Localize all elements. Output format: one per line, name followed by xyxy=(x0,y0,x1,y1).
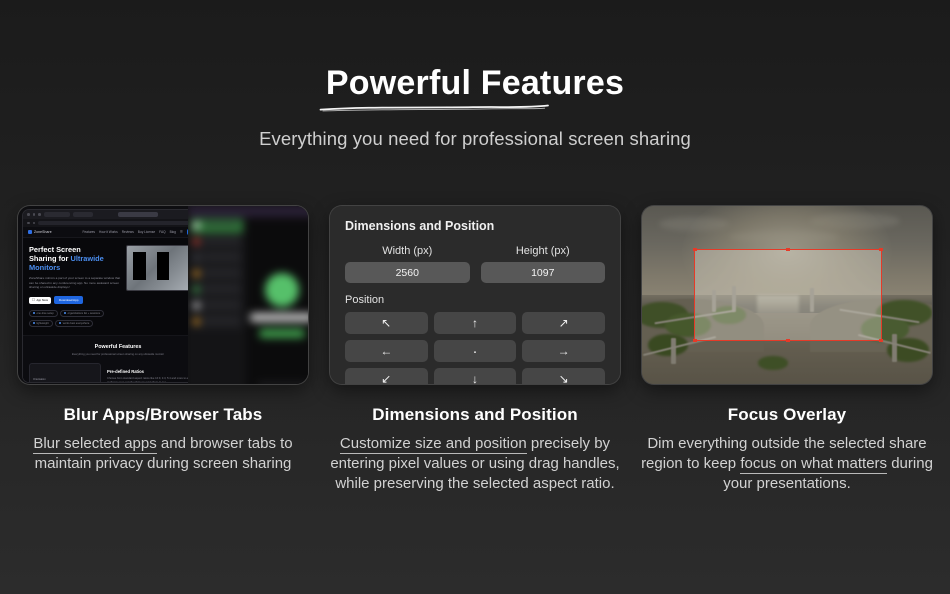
hero-chips: one-time setup organizations list + sess… xyxy=(29,310,121,327)
resize-handle-bottom-center[interactable] xyxy=(786,339,790,343)
avatar xyxy=(193,238,200,245)
blur-preview-scene: ZoneShare Features How it Works Reviews … xyxy=(18,206,308,384)
site-section-row: Orientation Display 1 Custom Ratios Auto… xyxy=(29,363,207,383)
position-button-top-center[interactable]: ↑ xyxy=(434,312,517,334)
blur-caption-highlight: Blur selected apps xyxy=(33,435,156,454)
bullet-icon xyxy=(64,312,66,314)
resize-handle-bottom-left[interactable] xyxy=(693,339,697,343)
forward-icon[interactable] xyxy=(33,222,36,225)
browser-tab-active[interactable] xyxy=(118,212,158,218)
features-page: Powerful Features Everything you need fo… xyxy=(0,0,950,594)
feature-column-focus: Focus Overlay Dim everything outside the… xyxy=(642,205,932,494)
title-underline-icon xyxy=(318,103,551,113)
focus-caption-text: Dim everything outside the selected shar… xyxy=(637,434,937,494)
dimensions-panel-heading: Dimensions and Position xyxy=(345,219,605,233)
hero-chip-label: lightweight xyxy=(37,322,49,325)
back-icon[interactable] xyxy=(27,222,30,225)
focus-caption-title: Focus Overlay xyxy=(637,405,937,425)
list-item xyxy=(191,315,243,329)
focus-caption-highlight: focus on what matters xyxy=(740,455,887,474)
download-app-button[interactable]: Download App xyxy=(54,296,83,304)
position-button-middle-left[interactable]: ← xyxy=(345,340,428,362)
site-features-section: Powerful Features Everything you need fo… xyxy=(23,335,213,383)
page-header: Powerful Features Everything you need fo… xyxy=(0,0,950,150)
site-hero: Perfect Screen Sharing for Ultrawide Mon… xyxy=(23,238,213,327)
app-conversation-list xyxy=(188,217,246,384)
hero-chip-label: organizations list + sessions xyxy=(68,312,100,315)
site-logo[interactable]: ZoneShare xyxy=(28,230,52,234)
hero-chip: works best everywhere xyxy=(55,320,93,327)
ratio-panel-label: Orientation xyxy=(33,378,46,381)
resize-handle-bottom-right[interactable] xyxy=(879,339,883,343)
avatar xyxy=(193,270,200,277)
address-bar[interactable] xyxy=(38,221,198,226)
site-section-title: Powerful Features xyxy=(29,344,207,350)
site-navbar: ZoneShare Features How it Works Reviews … xyxy=(23,227,213,238)
dimensions-panel: Dimensions and Position Width (px) 2560 … xyxy=(330,206,620,384)
bullet-icon xyxy=(33,322,35,324)
dimensions-preview-card[interactable]: Dimensions and Position Width (px) 2560 … xyxy=(329,205,621,385)
position-button-top-left[interactable]: ↖ xyxy=(345,312,428,334)
hero-chip-label: works best everywhere xyxy=(63,322,90,325)
bullet-icon xyxy=(59,322,61,324)
hero-paragraph: ZoneShare mirrors a part of your screen … xyxy=(29,276,121,290)
primary-action-button xyxy=(259,329,305,338)
hero-chip-label: one-time setup xyxy=(37,312,54,315)
height-label: Height (px) xyxy=(481,245,606,257)
list-item xyxy=(191,219,243,233)
focus-caption: Focus Overlay Dim everything outside the… xyxy=(637,405,937,494)
list-item xyxy=(191,299,243,313)
page-title-wrap: Powerful Features xyxy=(326,66,624,102)
avatar xyxy=(193,254,200,261)
feature-cards-row: ZoneShare Features How it Works Reviews … xyxy=(0,205,950,494)
dimensions-caption: Dimensions and Position Customize size a… xyxy=(325,405,625,494)
hero-heading-line1: Perfect Screen xyxy=(29,245,81,254)
menu-icon[interactable]: ☰ xyxy=(180,230,183,234)
resize-handle-top-left[interactable] xyxy=(693,248,697,252)
feature-column-blur: ZoneShare Features How it Works Reviews … xyxy=(18,205,308,494)
list-item xyxy=(191,267,243,281)
hero-heading-line3: Monitors xyxy=(29,263,60,272)
width-input[interactable]: 2560 xyxy=(345,262,470,283)
blurred-app-content xyxy=(188,206,308,384)
list-item xyxy=(191,283,243,297)
list-item xyxy=(191,251,243,265)
focus-preview-card[interactable] xyxy=(641,205,933,385)
blur-caption-title: Blur Apps/Browser Tabs xyxy=(13,405,313,425)
app-detail-pane xyxy=(246,217,308,384)
blurred-app-window xyxy=(188,206,308,384)
nav-item[interactable]: Blog xyxy=(170,230,176,234)
browser-window: ZoneShare Features How it Works Reviews … xyxy=(22,209,214,383)
blur-caption-text: Blur selected apps and browser tabs to m… xyxy=(13,434,313,474)
browser-tab[interactable] xyxy=(73,212,93,218)
app-titlebar xyxy=(188,206,308,217)
hero-heading-line2: Sharing for xyxy=(29,254,70,263)
width-field-group: Width (px) 2560 xyxy=(345,245,470,283)
traffic-light-icon xyxy=(27,213,30,216)
app-footer xyxy=(258,383,306,384)
beach-photo xyxy=(642,206,932,384)
resize-handle-top-right[interactable] xyxy=(879,248,883,252)
page-subtitle: Everything you need for professional scr… xyxy=(0,128,950,150)
browser-viewport: ZoneShare Features How it Works Reviews … xyxy=(23,227,213,382)
nav-item[interactable]: Features xyxy=(82,230,95,234)
hero-heading-accent: Ultrawide xyxy=(70,254,103,263)
share-region-selection[interactable] xyxy=(694,249,882,342)
feature-column-dimensions: Dimensions and Position Width (px) 2560 … xyxy=(330,205,620,494)
bullet-icon xyxy=(33,312,35,314)
browser-toolbar xyxy=(23,219,213,227)
focus-preview-scene xyxy=(642,206,932,384)
hero-heading: Perfect Screen Sharing for Ultrawide Mon… xyxy=(29,245,121,272)
dimensions-caption-title: Dimensions and Position xyxy=(325,405,625,425)
app-store-label: App Store xyxy=(37,299,49,302)
position-button-bottom-right[interactable]: ↘ xyxy=(522,368,605,385)
dimensions-caption-highlight: Customize size and position xyxy=(340,435,527,454)
blur-caption: Blur Apps/Browser Tabs Blur selected app… xyxy=(13,405,313,474)
height-field-group: Height (px) 1097 xyxy=(481,245,606,283)
traffic-light-icon xyxy=(38,213,41,216)
browser-tabstrip xyxy=(23,210,213,219)
traffic-light-icon xyxy=(33,213,36,216)
ratio-picker-panel: Orientation Display 1 Custom Ratios Auto… xyxy=(29,363,101,383)
blur-mask-region xyxy=(157,252,169,280)
browser-tab[interactable] xyxy=(44,212,70,218)
avatar xyxy=(193,286,200,293)
avatar xyxy=(193,222,200,229)
position-button-top-right[interactable]: ↗ xyxy=(522,312,605,334)
avatar xyxy=(193,318,200,325)
dimension-fields: Width (px) 2560 Height (px) 1097 xyxy=(345,245,605,283)
logo-mark-icon xyxy=(28,230,32,234)
position-label: Position xyxy=(345,294,605,306)
app-store-button[interactable]:  App Store xyxy=(29,297,51,304)
site-section-subtitle: Everything you need for professional scr… xyxy=(29,353,207,356)
dimensions-caption-text: Customize size and position precisely by… xyxy=(325,434,625,494)
position-button-center[interactable]: · xyxy=(434,340,517,362)
nav-item[interactable]: Buy License xyxy=(138,230,155,234)
list-item xyxy=(191,235,243,249)
hero-copy: Perfect Screen Sharing for Ultrawide Mon… xyxy=(29,245,121,327)
position-button-bottom-center[interactable]: ↓ xyxy=(434,368,517,385)
avatar xyxy=(265,273,299,307)
nav-item[interactable]: FAQ xyxy=(159,230,165,234)
resize-handle-top-center[interactable] xyxy=(786,248,790,252)
width-label: Width (px) xyxy=(345,245,470,257)
blur-mask-region xyxy=(133,252,146,280)
avatar xyxy=(193,302,200,309)
position-grid: ↖ ↑ ↗ ← · → ↙ ↓ ↘ xyxy=(345,312,605,385)
contact-name xyxy=(250,313,308,322)
page-title: Powerful Features xyxy=(326,66,624,102)
hero-chip: lightweight xyxy=(29,320,53,327)
hero-chip: organizations list + sessions xyxy=(60,310,104,317)
hero-chip: one-time setup xyxy=(29,310,58,317)
site-logo-label: ZoneShare xyxy=(34,230,52,234)
position-button-bottom-left[interactable]: ↙ xyxy=(345,368,428,385)
position-button-middle-right[interactable]: → xyxy=(522,340,605,362)
height-input[interactable]: 1097 xyxy=(481,262,606,283)
blur-preview-card[interactable]: ZoneShare Features How it Works Reviews … xyxy=(17,205,309,385)
apple-icon:  xyxy=(32,298,35,302)
nav-item[interactable]: Reviews xyxy=(122,230,134,234)
hero-buttons:  App Store Download App xyxy=(29,296,121,304)
nav-item[interactable]: How it Works xyxy=(99,230,118,234)
